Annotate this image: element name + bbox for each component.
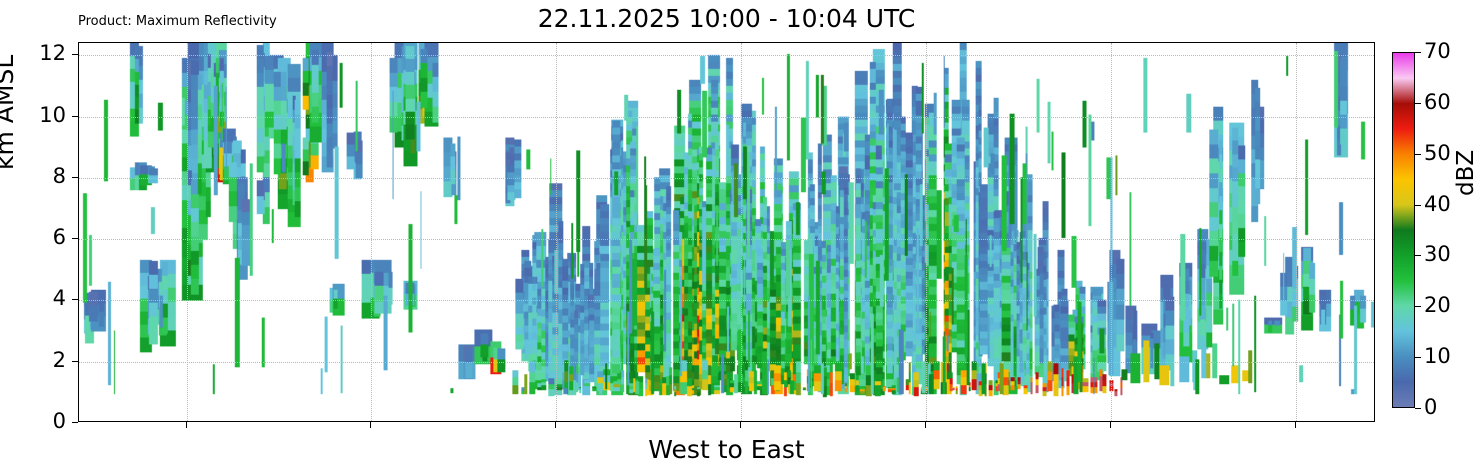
- colorbar-tick-label: 70: [1424, 41, 1451, 62]
- y-tick-mark: [72, 54, 78, 55]
- x-tick-mark: [370, 422, 371, 428]
- x-tick-mark: [925, 422, 926, 428]
- product-annotation: Product: Maximum Reflectivity: [78, 14, 277, 29]
- colorbar-label: dBZ: [1455, 150, 1478, 196]
- y-tick-label: 4: [0, 288, 66, 309]
- colorbar-tick-mark: [1415, 408, 1421, 409]
- colorbar-tick-label: 60: [1424, 92, 1451, 113]
- colorbar-tick-label: 50: [1424, 143, 1451, 164]
- y-tick-label: 0: [0, 411, 66, 432]
- x-axis-label: West to East: [78, 436, 1375, 464]
- x-tick-mark: [555, 422, 556, 428]
- colorbar-tick-label: 40: [1424, 194, 1451, 215]
- x-tick-mark: [1295, 422, 1296, 428]
- x-tick-mark: [186, 422, 187, 428]
- y-tick-mark: [72, 238, 78, 239]
- colorbar-tick-label: 20: [1424, 295, 1451, 316]
- y-tick-mark: [72, 116, 78, 117]
- radar-cross-section-figure: 22.11.2025 10:00 - 10:04 UTC Product: Ma…: [0, 0, 1482, 470]
- plot-area: [78, 42, 1375, 422]
- y-tick-mark: [72, 361, 78, 362]
- colorbar-tick-mark: [1415, 205, 1421, 206]
- colorbar: [1392, 52, 1415, 408]
- y-tick-label: 6: [0, 227, 66, 248]
- y-tick-label: 10: [0, 105, 66, 126]
- y-tick-mark: [72, 422, 78, 423]
- reflectivity-heatmap-canvas: [79, 43, 1374, 421]
- colorbar-tick-mark: [1415, 357, 1421, 358]
- colorbar-tick-label: 10: [1424, 346, 1451, 367]
- colorbar-gradient: [1393, 53, 1414, 407]
- y-tick-mark: [72, 299, 78, 300]
- colorbar-tick-label: 0: [1424, 397, 1437, 418]
- y-tick-label: 12: [0, 43, 66, 64]
- colorbar-tick-mark: [1415, 52, 1421, 53]
- colorbar-tick-mark: [1415, 306, 1421, 307]
- colorbar-tick-mark: [1415, 255, 1421, 256]
- x-tick-mark: [740, 422, 741, 428]
- colorbar-tick-mark: [1415, 103, 1421, 104]
- y-tick-label: 8: [0, 166, 66, 187]
- colorbar-tick-mark: [1415, 154, 1421, 155]
- x-tick-mark: [1110, 422, 1111, 428]
- y-tick-mark: [72, 177, 78, 178]
- colorbar-tick-label: 30: [1424, 244, 1451, 265]
- y-tick-label: 2: [0, 350, 66, 371]
